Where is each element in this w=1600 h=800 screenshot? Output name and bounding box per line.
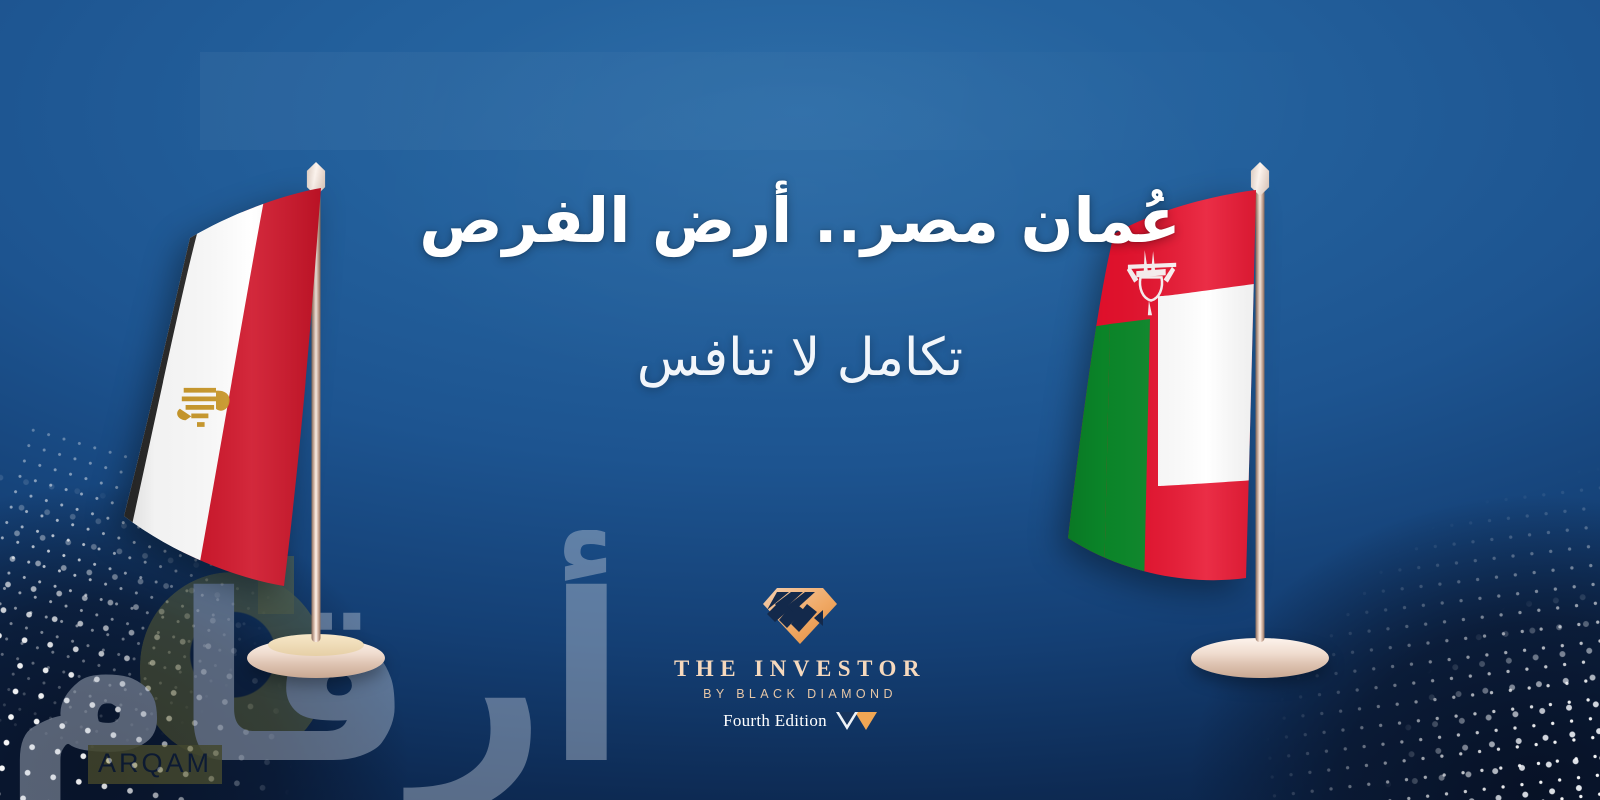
- oman-flag-base: [1191, 638, 1329, 678]
- logo-byline: BY BLACK DIAMOND: [650, 687, 950, 701]
- logo-edition-row: Fourth Edition: [650, 711, 950, 731]
- page-subtitle: تكامل لا تنافس: [0, 330, 1600, 387]
- banner-stage: أرقام ARQAM: [0, 0, 1600, 800]
- watermark-latin-text: ARQAM: [98, 748, 212, 778]
- page-title: عُمان مصر.. أرض الفرص: [0, 188, 1600, 253]
- triangle-down-outline-icon: [836, 712, 858, 730]
- edition-triangles: [836, 712, 877, 730]
- investor-logo: THE INVESTOR BY BLACK DIAMOND Fourth Edi…: [650, 578, 950, 731]
- watermark-latin-badge: ARQAM: [88, 745, 222, 784]
- edition-label: Fourth Edition: [723, 711, 827, 731]
- triangle-up-filled-icon: [855, 712, 877, 730]
- diamond-chevron-icon: [757, 578, 843, 648]
- logo-wordmark: THE INVESTOR: [650, 656, 950, 682]
